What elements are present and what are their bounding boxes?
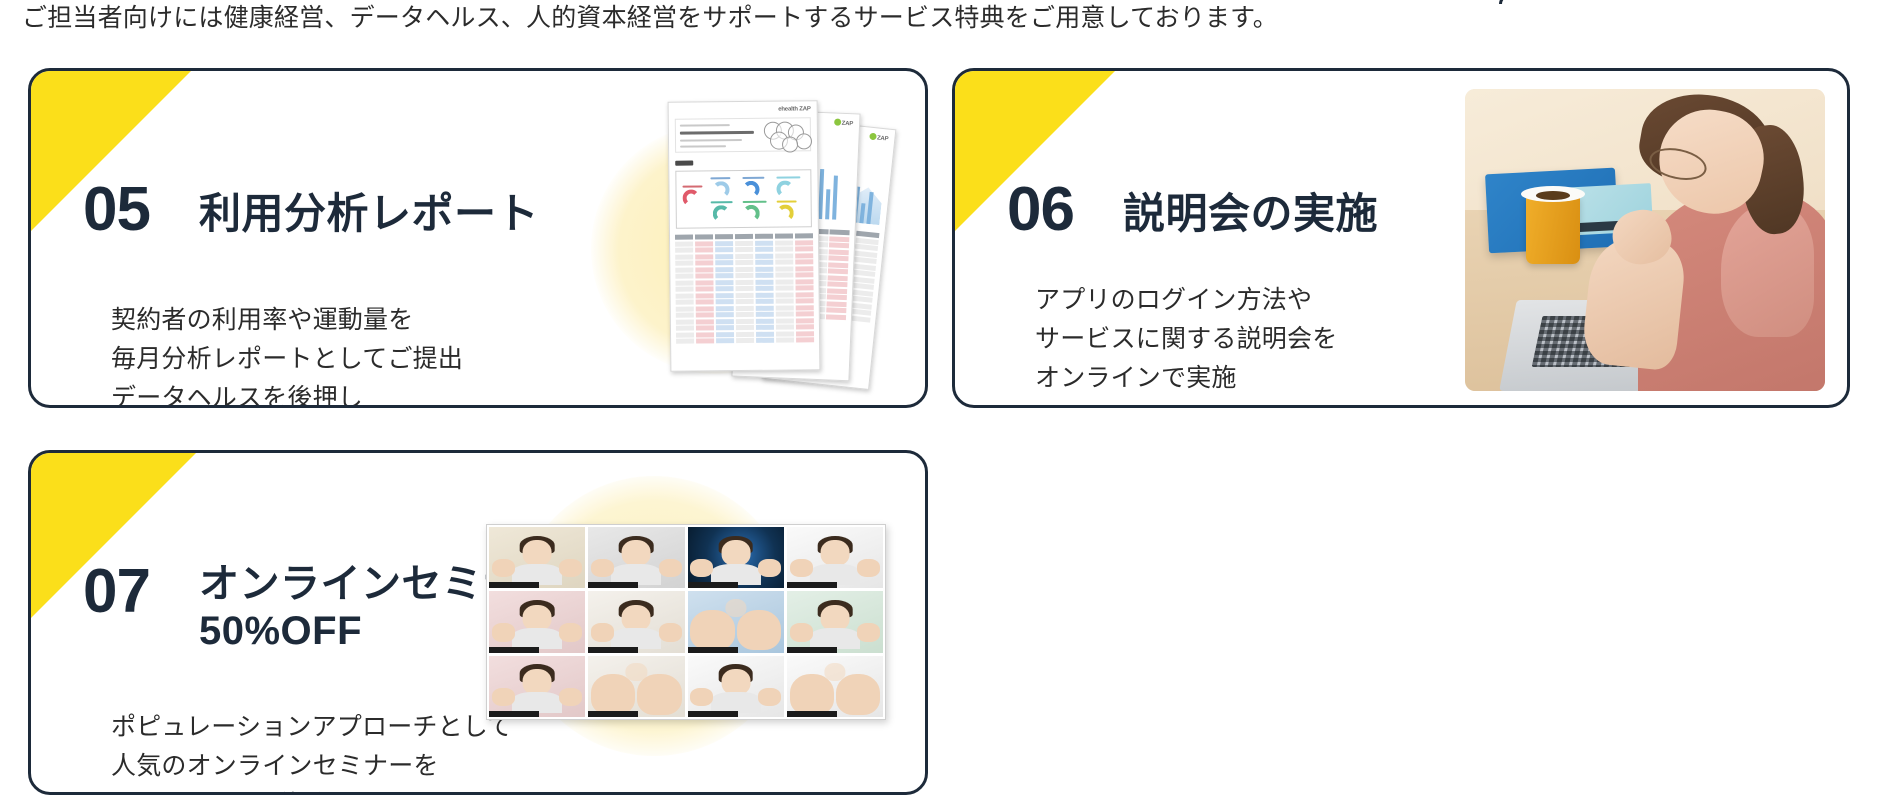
report-header-band bbox=[675, 117, 811, 152]
top-border-fragment-right bbox=[1817, 0, 1877, 4]
video-tile bbox=[489, 656, 585, 717]
benefit-card-05[interactable]: 05 利用分析レポート 契約者の利用率や運動量を 毎月分析レポートとしてご提出 … bbox=[28, 68, 928, 408]
ehealth-zap-logo-icon-middle: ZAP bbox=[834, 118, 854, 127]
page-root: ご担当者向けには健康経営、データヘルス、人的資本経営をサポートするサービス特典を… bbox=[0, 0, 1877, 799]
report-table-front bbox=[675, 233, 814, 345]
card-body-05: 契約者の利用率や運動量を 毎月分析レポートとしてご提出 データヘルスを後押し bbox=[111, 301, 463, 408]
video-tile bbox=[787, 527, 883, 588]
video-tile bbox=[588, 656, 684, 717]
intro-paragraph: ご担当者向けには健康経営、データヘルス、人的資本経営をサポートするサービス特典を… bbox=[22, 0, 1278, 36]
woman-at-laptop-photo bbox=[1465, 89, 1825, 391]
report-page-front: ehealth ZAP bbox=[668, 100, 821, 372]
video-tile bbox=[489, 591, 585, 652]
ehealth-zap-logo-icon: ZAP bbox=[869, 133, 889, 143]
online-seminar-video-grid bbox=[486, 498, 906, 748]
video-tile bbox=[688, 656, 784, 717]
video-tile bbox=[588, 591, 684, 652]
card-body-06: アプリのログイン方法や サービスに関する説明会を オンラインで実施 bbox=[1035, 281, 1337, 398]
video-tile bbox=[787, 656, 883, 717]
card-body-07: ポピュレーションアプローチとして 人気のオンラインセミナーを 50%OFFにてご… bbox=[111, 708, 512, 795]
analysis-report-artwork: ZAP bbox=[561, 79, 926, 408]
report-gauge-panel bbox=[675, 169, 812, 228]
video-tile bbox=[688, 591, 784, 652]
card-title-06: 説明会の実施 bbox=[1123, 189, 1378, 239]
card-number-06: 06 bbox=[1007, 179, 1074, 241]
card-number-05: 05 bbox=[83, 179, 150, 241]
benefit-card-07[interactable]: 07 オンラインセミナー 50%OFF ポピュレーションアプローチとして 人気の… bbox=[28, 450, 928, 795]
card-number-07: 07 bbox=[83, 561, 150, 623]
video-participant-grid bbox=[486, 524, 886, 720]
video-tile bbox=[489, 527, 585, 588]
video-tile bbox=[588, 527, 684, 588]
video-tile bbox=[787, 591, 883, 652]
card-title-05: 利用分析レポート bbox=[199, 189, 539, 239]
ehealth-zap-logo-icon-front: ehealth ZAP bbox=[778, 106, 811, 112]
video-tile bbox=[688, 527, 784, 588]
photo-coffee-cup bbox=[1526, 195, 1580, 264]
top-border-fragment bbox=[1499, 0, 1819, 4]
benefit-card-06[interactable]: 06 説明会の実施 アプリのログイン方法や サービスに関する説明会を オンライン… bbox=[952, 68, 1850, 408]
